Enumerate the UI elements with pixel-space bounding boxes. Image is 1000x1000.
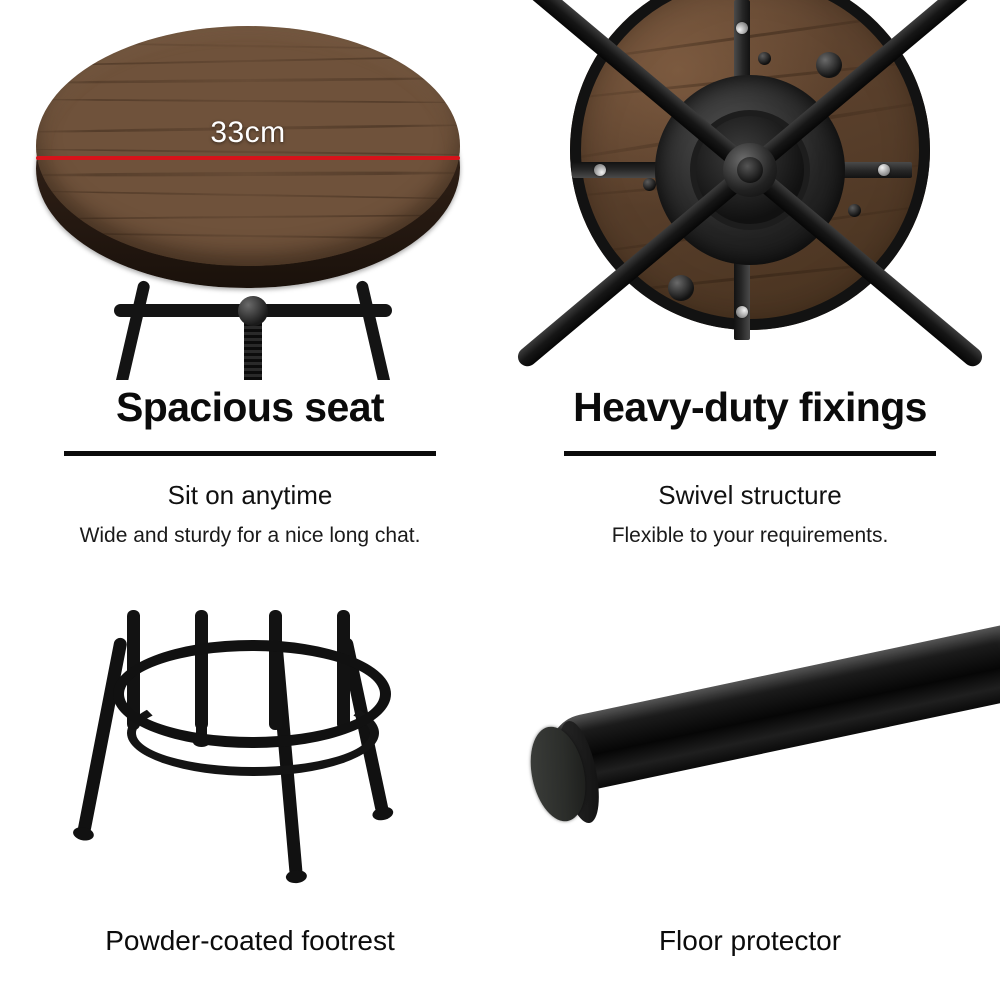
feature-subtitle-left: Sit on anytime (0, 480, 500, 511)
measurement-line (36, 156, 460, 160)
leg-tube (542, 625, 1000, 797)
measurement-label: 33cm (28, 116, 468, 150)
caption-floor-protector: Floor protector (500, 925, 1000, 957)
footrest-photo (0, 590, 500, 920)
floor-protector-photo (500, 590, 1000, 920)
swivel-center-bolt (723, 143, 777, 197)
swivel-mechanism-photo (500, 0, 1000, 380)
seat-leg-left (112, 280, 151, 380)
stool-seat-illustration: 33cm (28, 18, 468, 318)
swivel-knob (238, 296, 268, 326)
feature-title-right: Heavy-duty fixings (500, 386, 1000, 429)
feature-description-right: Flexible to your requirements. (500, 524, 1000, 548)
caption-footrest: Powder-coated footrest (0, 925, 500, 957)
screw-icon (736, 22, 748, 34)
screw-icon (594, 164, 606, 176)
stool-underside-illustration (545, 0, 955, 380)
threaded-screw-column (244, 320, 262, 380)
hub-bolt (848, 204, 861, 217)
feature-text-left: Spacious seat Sit on anytime Wide and st… (0, 386, 500, 548)
feature-text-right: Heavy-duty fixings Swivel structure Flex… (500, 386, 1000, 548)
screw-icon (878, 164, 890, 176)
feature-subtitle-right: Swivel structure (500, 480, 1000, 511)
adjuster-knob (816, 52, 842, 78)
footrest-ring-upper (113, 640, 391, 748)
footrest-illustration (55, 598, 445, 913)
feature-title-left: Spacious seat (0, 386, 500, 429)
divider-rule-right (564, 451, 936, 456)
product-feature-sheet: 33cm (0, 0, 1000, 1000)
floor-protector-illustration (510, 600, 1000, 900)
feature-description-left: Wide and sturdy for a nice long chat. (0, 524, 500, 548)
seat-photo: 33cm (0, 0, 500, 380)
seat-leg-right (355, 280, 394, 380)
footrest-leg-1 (77, 637, 128, 836)
adjuster-knob (668, 275, 694, 301)
screw-icon (736, 306, 748, 318)
divider-rule-left (64, 451, 436, 456)
